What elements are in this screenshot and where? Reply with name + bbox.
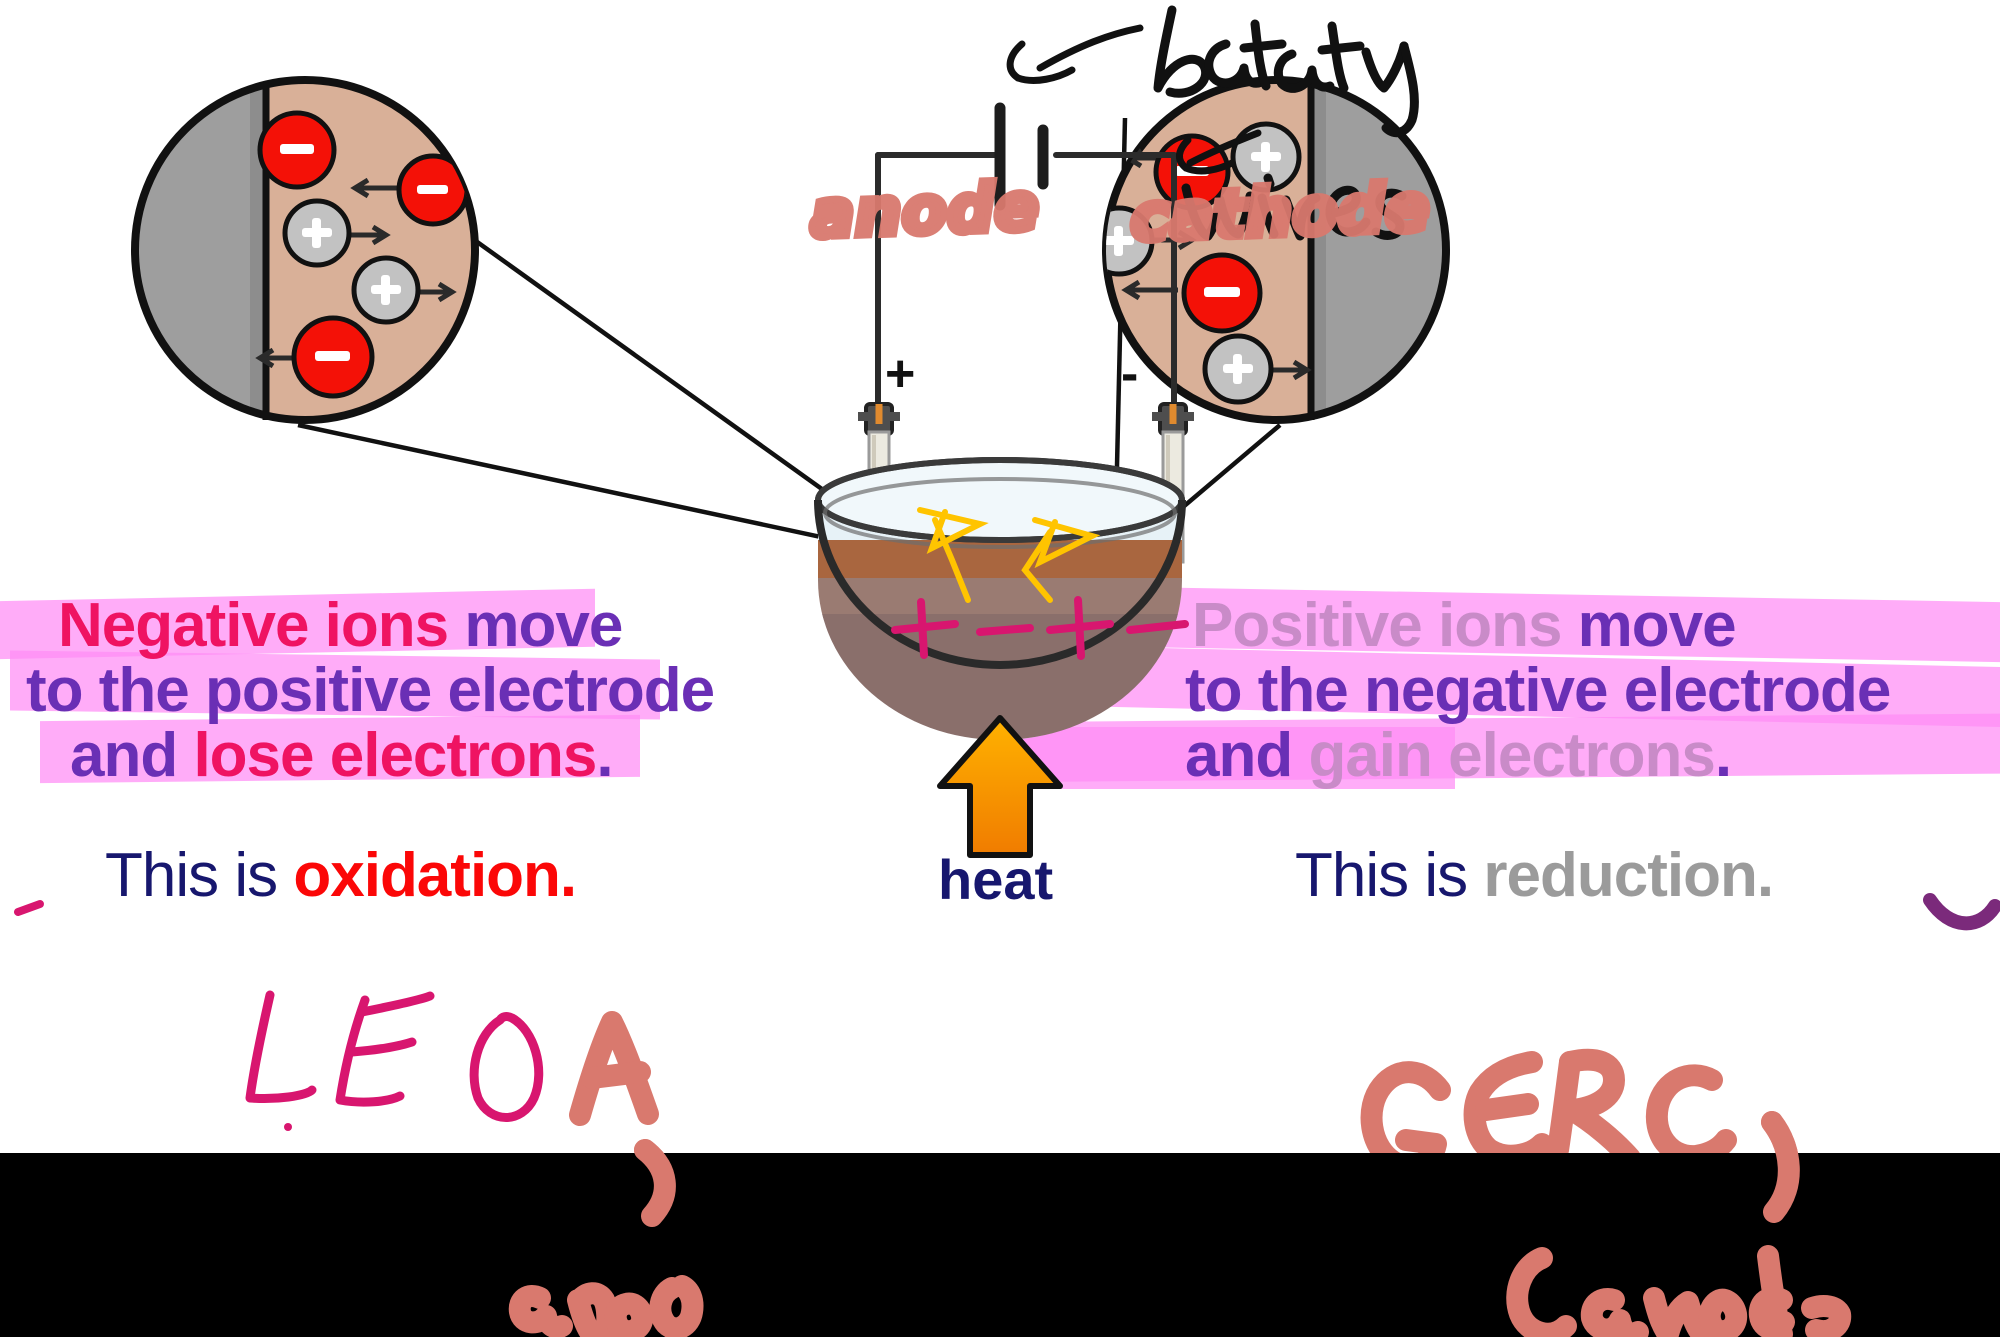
wires-arrow: [1179, 133, 1258, 171]
left-line3-period: .: [596, 721, 612, 790]
left-text-line1: Negative ions move: [58, 595, 622, 657]
handwriting-battery-word: [1158, 10, 1414, 133]
left-text-line3: and lose electrons.: [70, 725, 613, 787]
right-line4-bold: reduction: [1483, 841, 1756, 910]
right-line4-prefix: This is: [1295, 841, 1483, 910]
black-bottom-bar: [0, 1153, 2000, 1337]
right-line3-prefix: and: [1185, 721, 1308, 790]
heat-label: heat: [938, 852, 1053, 908]
left-text-line4: This is oxidation.: [105, 845, 576, 907]
right-text-line2: to the negative electrode: [1185, 660, 1890, 722]
left-line4-prefix: This is: [105, 841, 293, 910]
anode-handwriting: anode: [809, 174, 1040, 248]
stray-right-mark: [1930, 900, 1995, 923]
right-line3-bold: gain electrons: [1308, 721, 1714, 790]
zoom-circle-left: [130, 75, 475, 435]
left-line4-period: .: [560, 841, 576, 910]
left-text-line2: to the positive electrode: [26, 660, 714, 722]
leo-handwriting: [250, 995, 539, 1131]
electrode-right: [1152, 404, 1194, 562]
right-text-line3: and gain electrons.: [1185, 725, 1731, 787]
right-line1-rest: move: [1561, 591, 1735, 660]
terminal-negative: -: [1121, 348, 1138, 400]
left-line3-bold: lose electrons: [193, 721, 596, 790]
right-line1-bold: Positive ions: [1192, 591, 1561, 660]
cathode-handwriting: cathode: [1129, 175, 1431, 251]
electrode-left: [858, 404, 900, 562]
right-line3-period: .: [1715, 721, 1731, 790]
stray-left-mark: [18, 904, 40, 912]
right-line4-period: .: [1757, 841, 1773, 910]
left-line1-bold: Negative ions: [58, 591, 448, 660]
figure-canvas: anode cathode + - Negative ions move to …: [0, 0, 2000, 1337]
left-line4-bold: oxidation: [293, 841, 560, 910]
right-text-line1: Positive ions move: [1192, 595, 1736, 657]
left-line1-rest: move: [448, 591, 622, 660]
terminal-positive: +: [885, 348, 915, 400]
right-text-line4: This is reduction.: [1295, 845, 1773, 907]
left-line3-prefix: and: [70, 721, 193, 790]
battery-arrow: [1010, 28, 1140, 80]
